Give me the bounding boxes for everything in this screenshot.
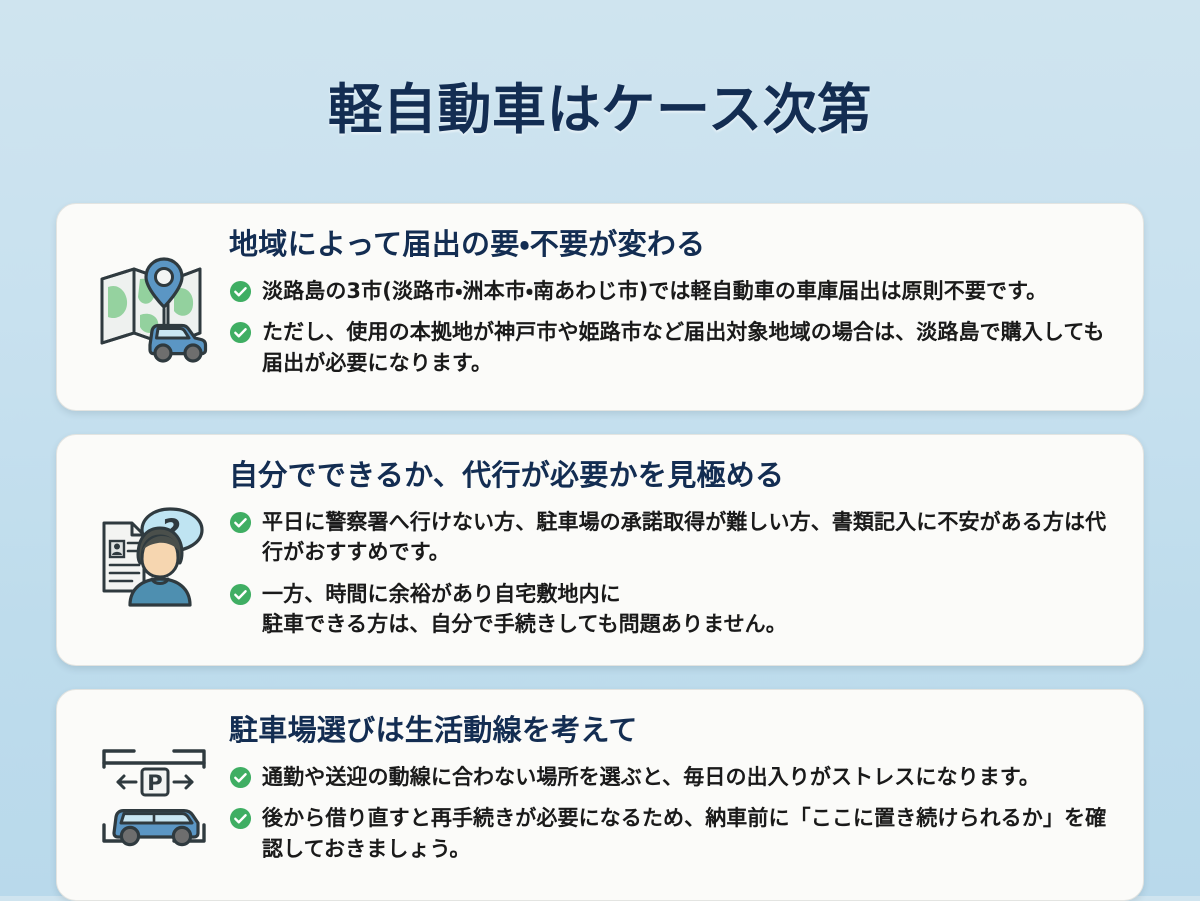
map-location-car-icon bbox=[94, 253, 214, 363]
list-item: 通勤や送迎の動線に合わない場所を選ぶと、毎日の出入りがストレスになります。 bbox=[229, 762, 1113, 793]
bullet-text: 平日に警察署へ行けない方、駐車場の承諾取得が難しい方、書類記入に不安がある方は代… bbox=[262, 507, 1113, 568]
bullet-list: 平日に警察署へ行けない方、駐車場の承諾取得が難しい方、書類記入に不安がある方は代… bbox=[229, 507, 1113, 641]
card-list: 地域によって届出の要・不要が変わる 淡路島の3市(淡路市・洲本市・南あわじ市)で… bbox=[56, 203, 1144, 901]
card-icon-wrap bbox=[79, 249, 229, 363]
list-item: 平日に警察署へ行けない方、駐車場の承諾取得が難しい方、書類記入に不安がある方は代… bbox=[229, 507, 1113, 568]
card-title: 自分でできるか、代行が必要かを見極める bbox=[229, 457, 1113, 495]
list-item: ただし、使用の本拠地が神戸市や姫路市など届出対象地域の場合は、淡路島で購入しても… bbox=[229, 317, 1113, 378]
card-region-notification: 地域によって届出の要・不要が変わる 淡路島の3市(淡路市・洲本市・南あわじ市)で… bbox=[56, 203, 1144, 411]
bullet-text: ただし、使用の本拠地が神戸市や姫路市など届出対象地域の場合は、淡路島で購入しても… bbox=[262, 317, 1113, 378]
check-circle-icon bbox=[229, 807, 252, 830]
bullet-list: 通勤や送迎の動線に合わない場所を選ぶと、毎日の出入りがストレスになります。 後か… bbox=[229, 762, 1113, 865]
card-icon-wrap: ? bbox=[79, 491, 229, 607]
card-body: 地域によって届出の要・不要が変わる 淡路島の3市(淡路市・洲本市・南あわじ市)で… bbox=[229, 222, 1117, 379]
bullet-text: 後から借り直すと再手続きが必要になるため、納車前に「ここに置き続けられるか」を確… bbox=[262, 803, 1113, 864]
person-question-document-icon: ? bbox=[94, 495, 214, 607]
list-item: 淡路島の3市(淡路市・洲本市・南あわじ市)では軽自動車の車庫届出は原則不要です。 bbox=[229, 276, 1113, 307]
parking-garage-car-icon: P bbox=[94, 741, 214, 851]
card-title: 地域によって届出の要・不要が変わる bbox=[229, 226, 1113, 264]
list-item: 一方、時間に余裕があり自宅敷地内に 駐車できる方は、自分で手続きしても問題ありま… bbox=[229, 579, 1113, 640]
check-circle-icon bbox=[229, 321, 252, 344]
check-circle-icon bbox=[229, 280, 252, 303]
card-icon-wrap: P bbox=[79, 737, 229, 851]
card-parking-choice: P bbox=[56, 689, 1144, 901]
page-title: 軽自動車はケース次第 bbox=[328, 80, 872, 140]
check-circle-icon bbox=[229, 511, 252, 534]
card-body: 駐車場選びは生活動線を考えて 通勤や送迎の動線に合わない場所を選ぶと、毎日の出入… bbox=[229, 708, 1117, 865]
bullet-list: 淡路島の3市(淡路市・洲本市・南あわじ市)では軽自動車の車庫届出は原則不要です。… bbox=[229, 276, 1113, 379]
page-title-wrap: 軽自動車はケース次第 bbox=[56, 28, 1144, 203]
card-title: 駐車場選びは生活動線を考えて bbox=[229, 712, 1113, 750]
svg-text:P: P bbox=[147, 771, 162, 795]
bullet-text: 一方、時間に余裕があり自宅敷地内に 駐車できる方は、自分で手続きしても問題ありま… bbox=[262, 579, 787, 640]
list-item: 後から借り直すと再手続きが必要になるため、納車前に「ここに置き続けられるか」を確… bbox=[229, 803, 1113, 864]
bullet-text: 淡路島の3市(淡路市・洲本市・南あわじ市)では軽自動車の車庫届出は原則不要です。 bbox=[262, 276, 1047, 307]
bullet-text: 通勤や送迎の動線に合わない場所を選ぶと、毎日の出入りがストレスになります。 bbox=[262, 762, 1040, 793]
card-diy-or-agent: ? 自分でできるか、代行が必要かを見極める bbox=[56, 434, 1144, 666]
check-circle-icon bbox=[229, 766, 252, 789]
card-body: 自分でできるか、代行が必要かを見極める 平日に警察署へ行けない方、駐車場の承諾取… bbox=[229, 453, 1117, 640]
check-circle-icon bbox=[229, 583, 252, 606]
infographic-page: 軽自動車はケース次第 bbox=[0, 0, 1200, 896]
